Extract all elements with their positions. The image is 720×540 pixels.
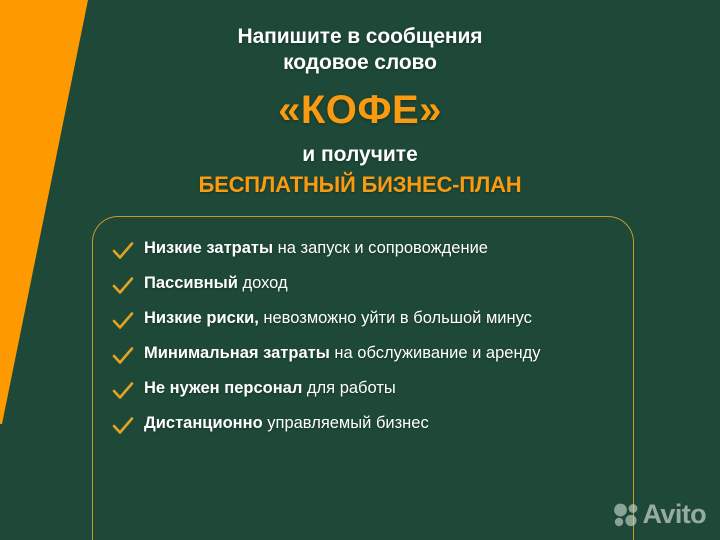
benefits-list: Низкие затраты на запуск и сопровождение… <box>112 238 624 437</box>
list-item-bold: Пассивный <box>144 274 238 292</box>
list-item-bold: Не нужен персонал <box>144 379 302 397</box>
list-item-text: Не нужен персонал для работы <box>144 378 396 399</box>
check-icon <box>112 275 134 297</box>
offer-line: БЕСПЛАТНЫЙ БИЗНЕС-ПЛАН <box>110 172 610 198</box>
avito-brand-text: Avito <box>643 501 707 528</box>
headline-line-2: кодовое слово <box>110 50 610 76</box>
list-item: Низкие риски, невозможно уйти в большой … <box>112 308 624 332</box>
list-item-rest: доход <box>238 274 288 292</box>
avito-watermark: Avito <box>613 501 707 528</box>
list-item-bold: Низкие затраты <box>144 239 273 257</box>
code-word: «КОФЕ» <box>110 88 610 133</box>
list-item-bold: Дистанционно <box>144 414 263 432</box>
check-icon <box>112 345 134 367</box>
list-item: Не нужен персонал для работы <box>112 378 624 402</box>
list-item: Низкие затраты на запуск и сопровождение <box>112 238 624 262</box>
check-icon <box>112 240 134 262</box>
list-item-rest: на запуск и сопровождение <box>273 239 488 257</box>
list-item-rest: для работы <box>302 379 395 397</box>
list-item-text: Дистанционно управляемый бизнес <box>144 413 429 434</box>
list-item: Дистанционно управляемый бизнес <box>112 413 624 437</box>
list-item-bold: Минимальная затраты <box>144 344 330 362</box>
list-item-rest: невозможно уйти в большой минус <box>259 309 532 327</box>
headline-line-3: и получите <box>110 142 610 167</box>
check-icon <box>112 310 134 332</box>
check-icon <box>112 380 134 402</box>
headline-block: Напишите в сообщения кодовое слово «КОФЕ… <box>110 24 610 199</box>
avito-dots-icon <box>613 503 639 527</box>
headline-line-1: Напишите в сообщения <box>110 24 610 50</box>
list-item-text: Низкие затраты на запуск и сопровождение <box>144 238 488 259</box>
list-item-text: Минимальная затраты на обслуживание и ар… <box>144 343 540 364</box>
list-item-rest: управляемый бизнес <box>263 414 429 432</box>
list-item-text: Низкие риски, невозможно уйти в большой … <box>144 308 532 329</box>
list-item-rest: на обслуживание и аренду <box>330 344 541 362</box>
list-item-bold: Низкие риски, <box>144 309 259 327</box>
list-item: Минимальная затраты на обслуживание и ар… <box>112 343 624 367</box>
check-icon <box>112 415 134 437</box>
list-item-text: Пассивный доход <box>144 273 288 294</box>
list-item: Пассивный доход <box>112 273 624 297</box>
poster-canvas: Напишите в сообщения кодовое слово «КОФЕ… <box>0 0 720 540</box>
